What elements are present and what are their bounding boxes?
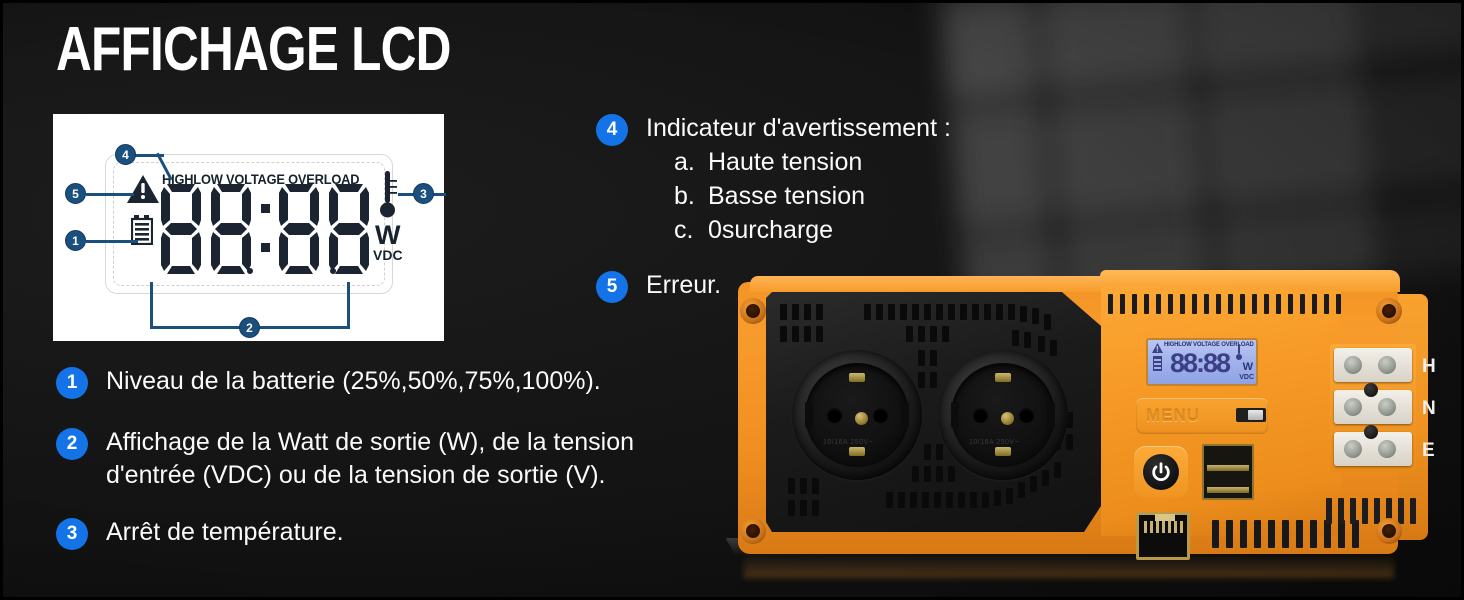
terminal-label-n: N (1422, 398, 1436, 420)
list-item-4b: b.Basse tension (674, 179, 1066, 213)
device-thermometer-icon (1236, 344, 1242, 360)
list-item-2-line2: d'entrée (VDC) ou de la tension de sorti… (106, 459, 756, 492)
terminal-screw-2 (1364, 425, 1378, 439)
mount-hole-bottom-left (740, 518, 766, 544)
socket-rating-label: 10/16A 250V~ (823, 439, 903, 446)
sub-text-a: Haute tension (708, 148, 862, 176)
list-item-2-line1: Affichage de la Watt de sortie (W), de l… (106, 426, 756, 459)
device-lcd-digits: 88:88 (1170, 349, 1229, 377)
mount-hole-top-left (740, 298, 766, 324)
product-reflection (744, 554, 1394, 578)
ac-socket-left: 10/16A 250V~ (792, 350, 922, 480)
list-item-2: 2 Affichage de la Watt de sortie (W), de… (56, 426, 756, 492)
callout-line-1 (86, 240, 138, 243)
sub-text-b: Basse tension (708, 182, 865, 210)
callout-line-5 (86, 193, 134, 196)
lcd-unit-watt: W (375, 222, 400, 249)
lcd-colon (261, 204, 270, 252)
list-item-4a: a.Haute tension (674, 145, 1066, 179)
seven-segment-digit (209, 182, 253, 274)
lcd-digit-group (159, 182, 371, 278)
product-front-panel: 10/16A 250V~ 10/16A 250V~ (766, 292, 1101, 532)
callout-badge-3: 3 (413, 183, 434, 204)
device-lcd-screen: HIGHLOW VOLTAGE OVERLOAD 88:88 W VDC (1146, 338, 1258, 386)
list-badge-2: 2 (56, 428, 88, 460)
product-image-inverter: 10/16A 250V~ 10/16A 250V~ (730, 276, 1436, 576)
rj45-jack[interactable] (1136, 512, 1190, 560)
socket-rating-label: 10/16A 250V~ (969, 439, 1049, 446)
sub-marker-b: b. (674, 179, 708, 213)
terminal-row-h[interactable] (1334, 348, 1412, 382)
seven-segment-digit (277, 182, 321, 274)
device-battery-icon (1153, 356, 1162, 371)
feature-list-left: 1 Niveau de la batterie (25%,50%,75%,100… (56, 365, 756, 567)
callout-line-2-right (347, 282, 350, 329)
terminal-screw-1 (1364, 383, 1378, 397)
list-item-4-text: Indicateur d'avertissement : (646, 112, 1066, 145)
list-item-3-text: Arrêt de température. (106, 516, 756, 549)
page-title: AFFICHAGE LCD (56, 18, 451, 82)
list-badge-3: 3 (56, 518, 88, 550)
ac-socket-right: 10/16A 250V~ (938, 350, 1068, 480)
product-bottom-vents (1212, 520, 1362, 548)
list-item-1: 1 Niveau de la batterie (25%,50%,75%,100… (56, 365, 756, 398)
list-item-1-text: Niveau de la batterie (25%,50%,75%,100%)… (106, 365, 756, 398)
sub-marker-a: a. (674, 145, 708, 179)
list-badge-1: 1 (56, 367, 88, 399)
list-item-4c: c.0surcharge (674, 213, 1066, 247)
lcd-diagram-panel: HIGHLOW VOLTAGE OVERLOAD (53, 114, 444, 341)
power-button[interactable] (1143, 454, 1179, 490)
callout-badge-2: 2 (239, 317, 260, 338)
terminal-label-e: E (1422, 440, 1435, 462)
sub-text-c: 0surcharge (708, 216, 833, 244)
list-badge-5: 5 (596, 271, 628, 303)
callout-line-2-left (150, 282, 153, 329)
device-lcd-unit-vdc: VDC (1239, 374, 1254, 381)
callout-badge-5: 5 (65, 183, 86, 204)
mount-hole-bottom-right (1376, 518, 1402, 544)
seven-segment-digit (327, 182, 371, 274)
terminal-label-h: H (1422, 356, 1436, 378)
callout-badge-1: 1 (65, 230, 86, 251)
seven-segment-digit (159, 182, 203, 274)
callout-badge-4: 4 (115, 144, 136, 165)
warning-triangle-icon (126, 174, 160, 204)
power-button-icon (1150, 461, 1172, 483)
product-top-vents (1108, 294, 1358, 314)
list-badge-4: 4 (596, 114, 628, 146)
product-side-vents (1326, 498, 1418, 524)
device-lcd-unit-watt: W (1243, 361, 1253, 373)
device-warning-triangle-icon (1152, 343, 1163, 353)
list-item-4: 4 Indicateur d'avertissement : a.Haute t… (596, 112, 1066, 247)
menu-label: MENU (1146, 406, 1200, 426)
list-item-3: 3 Arrêt de température. (56, 516, 756, 549)
usb-ports[interactable] (1202, 444, 1254, 500)
mount-hole-top-right (1376, 298, 1402, 324)
thermometer-icon (379, 171, 397, 219)
menu-toggle-switch[interactable] (1236, 408, 1266, 422)
sub-marker-c: c. (674, 213, 708, 247)
lcd-unit-vdc: VDC (373, 248, 403, 262)
